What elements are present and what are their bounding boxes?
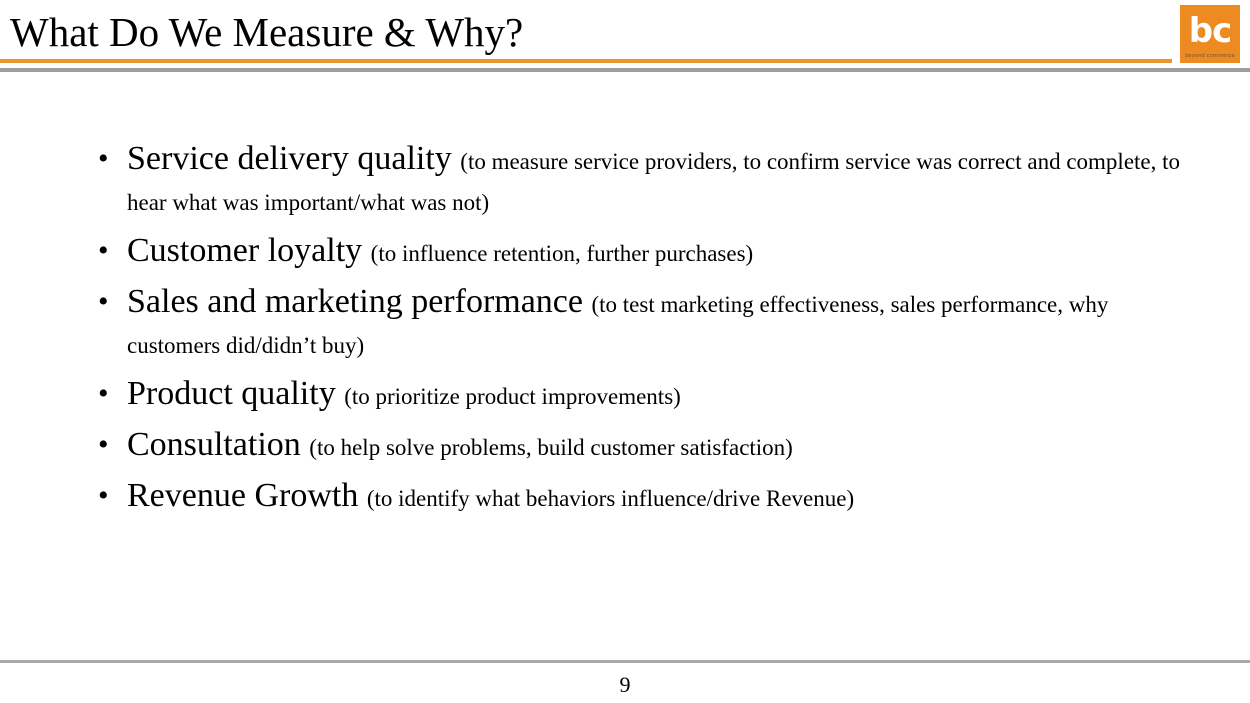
bullet-note-text: (to help solve problems, build customer … xyxy=(309,435,793,460)
beyond-commerce-logo: bc beyond commerce xyxy=(1180,5,1240,63)
bullet-marker-icon: • xyxy=(98,477,112,515)
slide-footer: 9 xyxy=(0,660,1250,703)
logo-mark: bc xyxy=(1180,5,1240,53)
bullet-note-text: (to prioritize product improvements) xyxy=(344,384,681,409)
list-item: • Revenue Growth (to identify what behav… xyxy=(0,477,1250,518)
footer-divider-rule xyxy=(0,660,1250,663)
presentation-slide: What Do We Measure & Why? bc beyond comm… xyxy=(0,0,1250,703)
list-item: • Consultation (to help solve problems, … xyxy=(0,426,1250,467)
header-divider-rule xyxy=(0,68,1250,72)
list-item: • Product quality (to prioritize product… xyxy=(0,375,1250,416)
page-number: 9 xyxy=(0,672,1250,698)
list-item: • Customer loyalty (to influence retenti… xyxy=(0,232,1250,273)
bullet-main-text: Revenue Growth xyxy=(127,477,358,514)
header-accent-rule xyxy=(0,59,1172,63)
bullet-main-text: Consultation xyxy=(127,426,301,463)
list-item: • Sales and marketing performance (to te… xyxy=(0,283,1250,365)
bullet-marker-icon: • xyxy=(98,375,112,413)
bullet-marker-icon: • xyxy=(98,283,112,321)
bullet-marker-icon: • xyxy=(98,232,112,270)
bullet-note-text: (to influence retention, further purchas… xyxy=(371,241,754,266)
bullet-main-text: Service delivery quality xyxy=(127,140,452,177)
bullet-main-text: Customer loyalty xyxy=(127,232,362,269)
bullet-main-text: Sales and marketing performance xyxy=(127,283,583,320)
bullet-note-text: (to identify what behaviors influence/dr… xyxy=(367,486,854,511)
list-item: • Service delivery quality (to measure s… xyxy=(0,140,1250,222)
page-title: What Do We Measure & Why? xyxy=(10,5,523,59)
bullet-list: • Service delivery quality (to measure s… xyxy=(0,140,1250,518)
logo-tagline: beyond commerce xyxy=(1180,53,1240,60)
bullet-marker-icon: • xyxy=(98,426,112,464)
slide-header: What Do We Measure & Why? bc beyond comm… xyxy=(0,0,1250,72)
slide-body: • Service delivery quality (to measure s… xyxy=(0,140,1250,528)
bullet-main-text: Product quality xyxy=(127,375,336,412)
logo-monogram: bc xyxy=(1189,14,1232,48)
bullet-marker-icon: • xyxy=(98,140,112,178)
